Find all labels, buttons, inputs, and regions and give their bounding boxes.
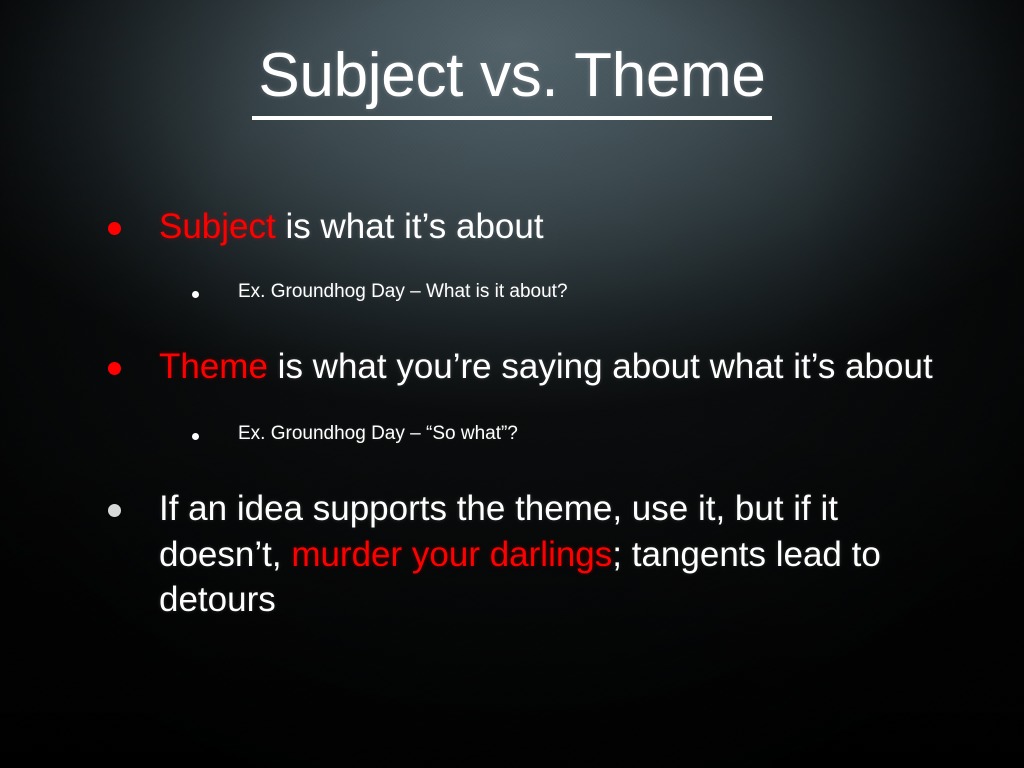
sub-bullet-text-normal: Ex. Groundhog Day – What is it about? [238,281,568,302]
bullet-text: If an idea supports the theme, use it, b… [159,486,938,623]
sub-bullet-item: Ex. Groundhog Day – What is it about? [108,280,938,308]
bullet-item: Theme is what you’re saying about what i… [108,344,938,392]
bullet-item: If an idea supports the theme, use it, b… [108,486,938,623]
bullet-text: Subject is what it’s about [159,204,938,250]
white-dot-bullet-icon [108,504,121,517]
sub-bullet-item: Ex. Groundhog Day – “So what”? [108,422,938,450]
bullet-list: Subject is what it’s about Ex. Groundhog… [108,204,938,653]
sub-bullet-text-normal: Ex. Groundhog Day – “So what”? [238,423,518,444]
sub-bullet-text: Ex. Groundhog Day – What is it about? [238,280,938,305]
white-dot-bullet-icon [192,433,199,440]
bullet-marker [108,344,159,392]
bullet-text-accent: Theme [159,347,268,386]
bullet-item: Subject is what it’s about [108,204,938,252]
sub-bullet-marker [192,422,238,450]
bullet-text-normal: is what it’s about [276,207,544,246]
white-dot-bullet-icon [192,291,199,298]
sub-bullet-marker [192,280,238,308]
bullet-text-accent: murder your darlings [291,535,612,574]
title-block: Subject vs. Theme [0,44,1024,120]
sub-bullet-text: Ex. Groundhog Day – “So what”? [238,422,938,447]
bullet-marker [108,204,159,252]
bullet-text-accent: Subject [159,207,276,246]
bullet-marker [108,486,159,534]
bullet-text: Theme is what you’re saying about what i… [159,344,938,390]
bullet-text-normal: is what you’re saying about what it’s ab… [268,347,933,386]
presentation-slide: Subject vs. Theme Subject is what it’s a… [0,0,1024,768]
slide-title: Subject vs. Theme [252,44,771,120]
red-dot-bullet-icon [108,222,121,235]
red-dot-bullet-icon [108,362,121,375]
